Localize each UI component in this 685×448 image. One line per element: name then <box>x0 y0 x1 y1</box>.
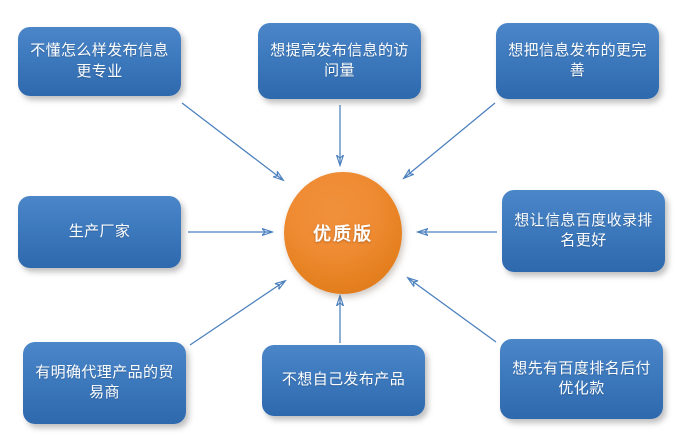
node-top-left-label: 不懂怎么样发布信息更专业 <box>24 41 175 82</box>
node-bottom-left[interactable]: 有明确代理产品的贸易商 <box>23 342 186 424</box>
connector-top-right <box>404 103 495 178</box>
node-bottom-right-label: 想先有百度排名后付优化款 <box>506 359 657 400</box>
node-top-center[interactable]: 想提高发布信息的访问量 <box>258 23 421 99</box>
node-bottom-center-label: 不想自己发布产品 <box>268 370 419 390</box>
connector-bottom-right <box>408 278 496 342</box>
node-middle-right-label: 想让信息百度收录排名更好 <box>508 211 659 252</box>
center-node-hub[interactable]: 优质版 <box>284 172 402 294</box>
connector-top-left <box>182 103 283 180</box>
node-bottom-right[interactable]: 想先有百度排名后付优化款 <box>500 339 663 419</box>
connector-bottom-left <box>190 281 285 345</box>
node-bottom-center[interactable]: 不想自己发布产品 <box>262 345 425 416</box>
node-top-right[interactable]: 想把信息发布的更完善 <box>496 23 659 99</box>
node-middle-right[interactable]: 想让信息百度收录排名更好 <box>502 190 665 272</box>
diagram-canvas: 不懂怎么样发布信息更专业 想提高发布信息的访问量 想把信息发布的更完善 生产厂家… <box>0 0 685 448</box>
node-bottom-left-label: 有明确代理产品的贸易商 <box>29 363 180 404</box>
node-top-right-label: 想把信息发布的更完善 <box>502 41 653 82</box>
node-top-left[interactable]: 不懂怎么样发布信息更专业 <box>18 27 181 96</box>
node-top-center-label: 想提高发布信息的访问量 <box>264 41 415 82</box>
node-middle-left-label: 生产厂家 <box>24 222 175 242</box>
center-node-label: 优质版 <box>313 220 373 246</box>
node-middle-left[interactable]: 生产厂家 <box>18 196 181 268</box>
